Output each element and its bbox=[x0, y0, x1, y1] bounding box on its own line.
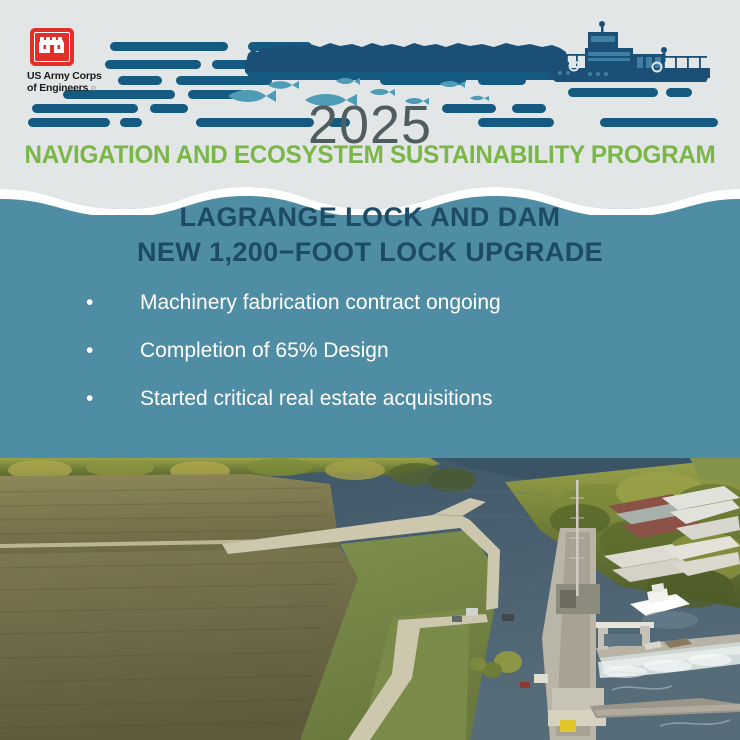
header-band: US Army Corps of Engineers ® 2025 NAVIGA… bbox=[0, 0, 740, 186]
bullet-list: • Machinery fabrication contract ongoing… bbox=[86, 290, 686, 435]
list-item-label: Machinery fabrication contract ongoing bbox=[140, 290, 686, 315]
bullet-marker-icon: • bbox=[86, 388, 140, 409]
navigation-ecosystem-sustainability-poster: US Army Corps of Engineers ® 2025 NAVIGA… bbox=[0, 0, 740, 740]
list-item: • Completion of 65% Design bbox=[86, 338, 686, 363]
list-item-label: Started critical real estate acquisition… bbox=[140, 386, 686, 411]
section-title-line1: LAGRANGE LOCK AND DAM bbox=[180, 202, 561, 232]
list-item: • Machinery fabrication contract ongoing bbox=[86, 290, 686, 315]
bullet-marker-icon: • bbox=[86, 292, 140, 313]
list-item: • Started critical real estate acquisiti… bbox=[86, 386, 686, 411]
usace-logo: US Army Corps of Engineers ® bbox=[27, 28, 113, 94]
lagrange-lock-and-dam-aerial-photo bbox=[0, 458, 740, 740]
usace-logo-line1: US Army Corps bbox=[27, 70, 102, 82]
list-item-label: Completion of 65% Design bbox=[140, 338, 686, 363]
towboat-icon bbox=[548, 21, 710, 82]
shoreline-treeline-icon bbox=[245, 43, 569, 80]
section-title-line2: NEW 1,200−FOOT LOCK UPGRADE bbox=[0, 235, 740, 270]
registered-mark: ® bbox=[91, 86, 96, 93]
usace-castle-icon bbox=[30, 28, 74, 66]
bullet-marker-icon: • bbox=[86, 340, 140, 361]
main-content-band: LAGRANGE LOCK AND DAM NEW 1,200−FOOT LOC… bbox=[0, 175, 740, 460]
section-title: LAGRANGE LOCK AND DAM NEW 1,200−FOOT LOC… bbox=[0, 200, 740, 269]
usace-logo-text: US Army Corps of Engineers ® bbox=[27, 70, 113, 94]
program-title: NAVIGATION AND ECOSYSTEM SUSTAINABILITY … bbox=[11, 143, 729, 168]
usace-logo-line2: of Engineers bbox=[27, 82, 88, 94]
